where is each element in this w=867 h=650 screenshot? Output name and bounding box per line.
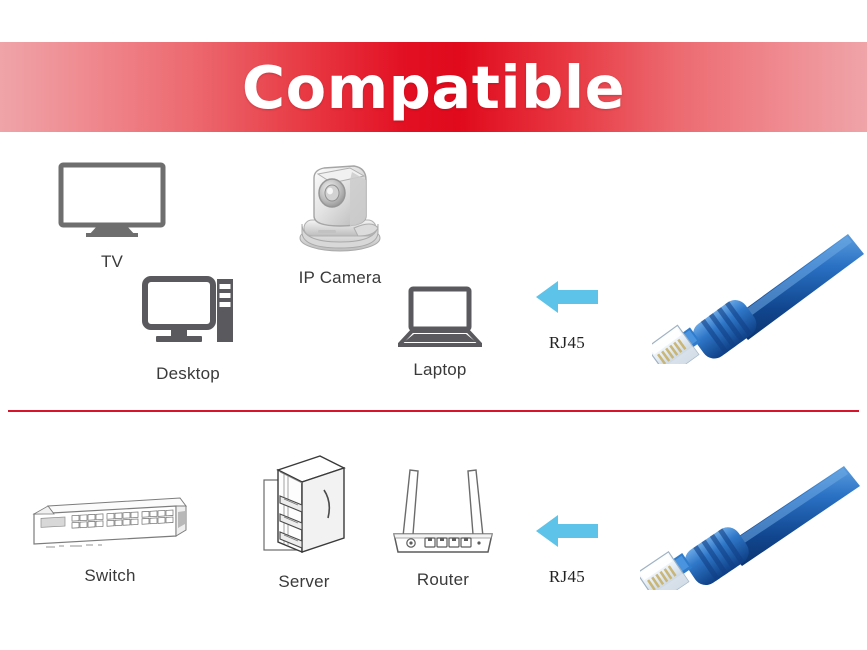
device-node-desktop: Desktop	[142, 276, 234, 384]
ip-camera-icon	[288, 158, 392, 261]
server-rack-icon	[258, 452, 350, 565]
wireless-router-icon	[388, 458, 498, 563]
page-title: Compatible	[242, 58, 625, 117]
arrow-left-icon	[534, 512, 600, 555]
device-label-server: Server	[278, 572, 329, 592]
device-label-switch: Switch	[84, 566, 135, 586]
device-node-switch: Switch	[30, 492, 190, 586]
device-label-laptop: Laptop	[413, 360, 466, 380]
device-node-tv: TV	[58, 162, 166, 272]
connector-group-top: RJ45	[534, 278, 600, 353]
device-label-router: Router	[417, 570, 469, 590]
tv-icon	[58, 162, 166, 245]
connector-label-rj45-top: RJ45	[549, 333, 585, 353]
compatibility-diagram-page: Compatible TV	[0, 0, 867, 650]
section-divider	[8, 410, 859, 412]
arrow-left-icon	[534, 278, 600, 321]
desktop-computer-icon	[142, 276, 234, 357]
device-node-server: Server	[258, 452, 350, 592]
connector-label-rj45-bottom: RJ45	[549, 567, 585, 587]
device-label-desktop: Desktop	[156, 364, 220, 384]
connector-group-bottom: RJ45	[534, 512, 600, 587]
rj45-ethernet-cable-icon-bottom	[640, 462, 866, 590]
device-label-tv: TV	[101, 252, 123, 272]
device-node-laptop: Laptop	[398, 286, 482, 380]
device-label-ip-camera: IP Camera	[299, 268, 382, 288]
rj45-ethernet-cable-icon-top	[652, 232, 866, 364]
laptop-icon	[398, 286, 482, 353]
device-node-router: Router	[388, 458, 498, 590]
header-banner: Compatible	[0, 42, 867, 132]
device-node-ip-camera: IP Camera	[288, 158, 392, 288]
network-switch-icon	[30, 492, 190, 559]
